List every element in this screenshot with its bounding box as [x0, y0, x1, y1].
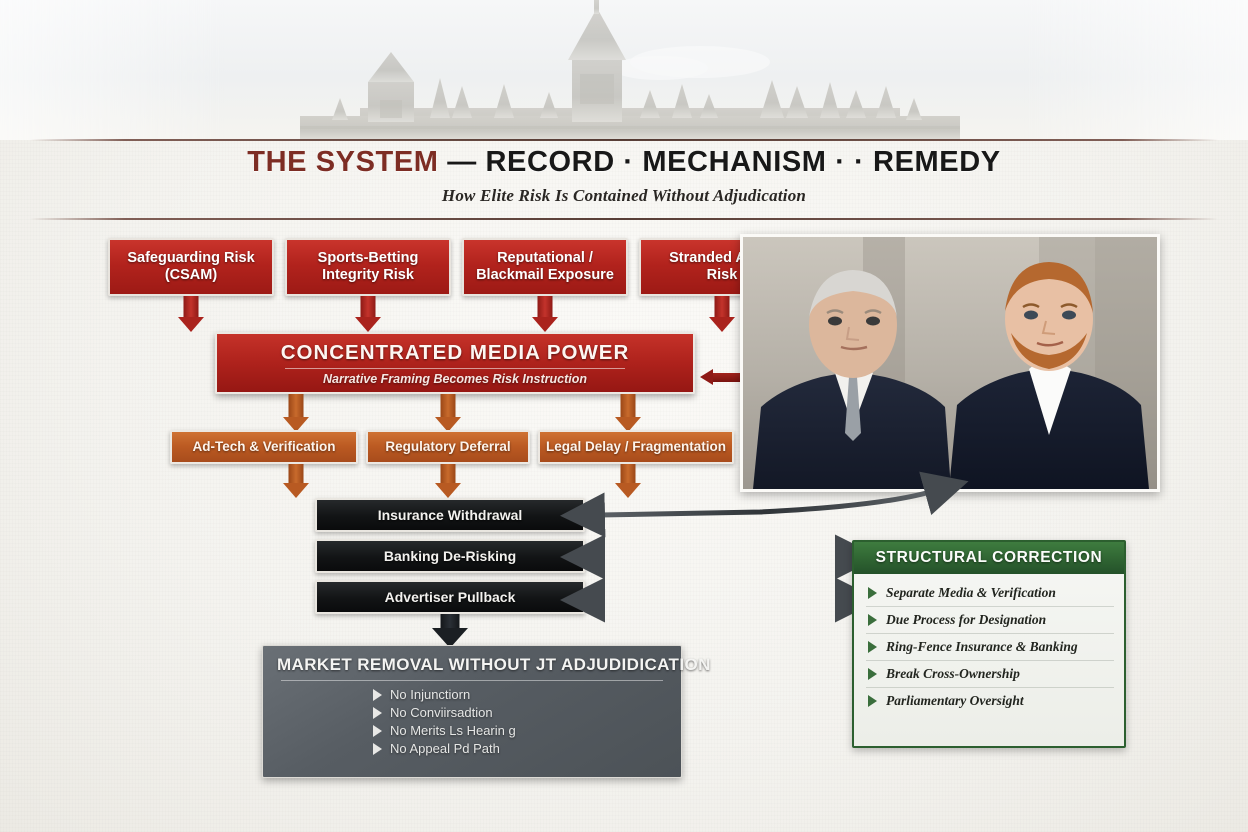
- market-removal-outcome-panel: MARKET REMOVAL WITHOUT JT ADJUDIDICATION…: [262, 645, 682, 778]
- outcome-panel-title: MARKET REMOVAL WITHOUT JT ADJUDIDICATION: [277, 655, 667, 675]
- page-title-highlight: THE SYSTEM: [247, 146, 438, 178]
- risk-box-safeguarding-line1: Safeguarding Risk: [127, 250, 254, 267]
- outcome-item: No Merits Ls Hearin g: [373, 723, 667, 738]
- title-rule-top: [30, 139, 1218, 141]
- concentrated-media-power-banner[interactable]: CONCENTRATED MEDIA POWER Narrative Frami…: [215, 332, 695, 394]
- remedy-item-label: Due Process for Designation: [886, 612, 1046, 628]
- media-banner-title: CONCENTRATED MEDIA POWER: [281, 341, 630, 365]
- remedy-list: Separate Media & Verification Due Proces…: [854, 574, 1124, 718]
- effect-box-banking-derisking-label: Banking De-Risking: [384, 548, 516, 565]
- risk-box-sports-betting-line2: Integrity Risk: [322, 267, 414, 284]
- arrow-mech-2-down-icon: [430, 464, 466, 498]
- arrow-risk-2-down-icon: [350, 296, 386, 332]
- remedy-item-label: Break Cross-Ownership: [886, 666, 1020, 682]
- arrow-media-to-mech-1-icon: [278, 394, 314, 432]
- outcome-item: No Appeal Pd Path: [373, 741, 667, 756]
- arrow-effects-to-outcome-icon: [430, 614, 470, 648]
- triangle-bullet-icon: [868, 695, 877, 707]
- risk-box-reputational-line1: Reputational /: [497, 250, 593, 267]
- media-banner-divider: [285, 368, 625, 369]
- risk-box-stranded-asset-line2: Risk: [707, 267, 738, 284]
- structural-correction-panel: STRUCTURAL CORRECTION Separate Media & V…: [852, 540, 1126, 748]
- photo-illustration: [743, 237, 1157, 489]
- remedy-item-label: Parliamentary Oversight: [886, 693, 1024, 709]
- mechanism-box-adtech-label: Ad-Tech & Verification: [192, 439, 335, 455]
- mechanism-box-regulatory-deferral-label: Regulatory Deferral: [385, 439, 510, 455]
- remedy-panel-title: STRUCTURAL CORRECTION: [854, 542, 1124, 574]
- risk-box-sports-betting[interactable]: Sports-Betting Integrity Risk: [285, 238, 451, 296]
- outcome-item: No Conviirsadtion: [373, 705, 667, 720]
- westminster-skyline-banner: [0, 0, 1248, 140]
- risk-box-safeguarding[interactable]: Safeguarding Risk (CSAM): [108, 238, 274, 296]
- infographic-canvas: THE SYSTEM — RECORD · MECHANISM · · REME…: [0, 0, 1248, 832]
- media-banner-subtitle: Narrative Framing Becomes Risk Instructi…: [323, 372, 587, 386]
- outcome-item: No Injunctiorn: [373, 687, 667, 702]
- arrow-risk-4-down-icon: [704, 296, 740, 332]
- triangle-bullet-icon: [373, 725, 382, 737]
- mechanism-box-adtech[interactable]: Ad-Tech & Verification: [170, 430, 358, 464]
- remedy-item[interactable]: Ring-Fence Insurance & Banking: [866, 634, 1114, 661]
- outcome-panel-divider: [281, 680, 663, 681]
- parliament-silhouette-icon: [0, 0, 1248, 140]
- arrow-photo-to-media-left-icon: [700, 369, 740, 385]
- triangle-bullet-icon: [868, 641, 877, 653]
- arrow-mech-3-down-icon: [610, 464, 646, 498]
- triangle-bullet-icon: [868, 587, 877, 599]
- outcome-item-label: No Merits Ls Hearin g: [390, 723, 516, 738]
- arrow-risk-3-down-icon: [527, 296, 563, 332]
- effect-box-insurance-withdrawal[interactable]: Insurance Withdrawal: [315, 498, 585, 532]
- remedy-item[interactable]: Separate Media & Verification: [866, 580, 1114, 607]
- effect-box-advertiser-pullback-label: Advertiser Pullback: [385, 589, 516, 606]
- subjects-photograph: [740, 234, 1160, 492]
- effect-box-insurance-withdrawal-label: Insurance Withdrawal: [378, 507, 523, 524]
- arrow-effects-to-photo-curved-icon: [600, 492, 930, 515]
- effect-box-advertiser-pullback[interactable]: Advertiser Pullback: [315, 580, 585, 614]
- triangle-bullet-icon: [373, 707, 382, 719]
- page-title: THE SYSTEM — RECORD · MECHANISM · · REME…: [0, 146, 1248, 179]
- risk-box-reputational[interactable]: Reputational / Blackmail Exposure: [462, 238, 628, 296]
- remedy-item[interactable]: Break Cross-Ownership: [866, 661, 1114, 688]
- mechanism-box-legal-delay[interactable]: Legal Delay / Fragmentation: [538, 430, 734, 464]
- arrow-media-to-mech-2-icon: [430, 394, 466, 432]
- triangle-bullet-icon: [868, 614, 877, 626]
- outcome-item-label: No Conviirsadtion: [390, 705, 493, 720]
- triangle-bullet-icon: [868, 668, 877, 680]
- page-title-rest: — RECORD · MECHANISM · · REMEDY: [439, 146, 1001, 178]
- arrow-risk-1-down-icon: [173, 296, 209, 332]
- outcome-item-label: No Appeal Pd Path: [390, 741, 500, 756]
- risk-box-safeguarding-line2: (CSAM): [165, 267, 217, 284]
- arrow-media-to-mech-3-icon: [610, 394, 646, 432]
- page-subtitle: How Elite Risk Is Contained Without Adju…: [0, 186, 1248, 206]
- mechanism-box-regulatory-deferral[interactable]: Regulatory Deferral: [366, 430, 530, 464]
- remedy-item-label: Ring-Fence Insurance & Banking: [886, 639, 1078, 655]
- title-block: THE SYSTEM — RECORD · MECHANISM · · REME…: [0, 146, 1248, 206]
- risk-box-reputational-line2: Blackmail Exposure: [476, 267, 614, 284]
- remedy-item-label: Separate Media & Verification: [886, 585, 1056, 601]
- mechanism-box-legal-delay-label: Legal Delay / Fragmentation: [546, 439, 726, 455]
- triangle-bullet-icon: [373, 689, 382, 701]
- risk-box-sports-betting-line1: Sports-Betting: [318, 250, 419, 267]
- remedy-item[interactable]: Parliamentary Oversight: [866, 688, 1114, 714]
- remedy-item[interactable]: Due Process for Designation: [866, 607, 1114, 634]
- arrow-mech-1-down-icon: [278, 464, 314, 498]
- effect-box-banking-derisking[interactable]: Banking De-Risking: [315, 539, 585, 573]
- triangle-bullet-icon: [373, 743, 382, 755]
- title-rule-bottom: [30, 218, 1218, 220]
- outcome-item-label: No Injunctiorn: [390, 687, 470, 702]
